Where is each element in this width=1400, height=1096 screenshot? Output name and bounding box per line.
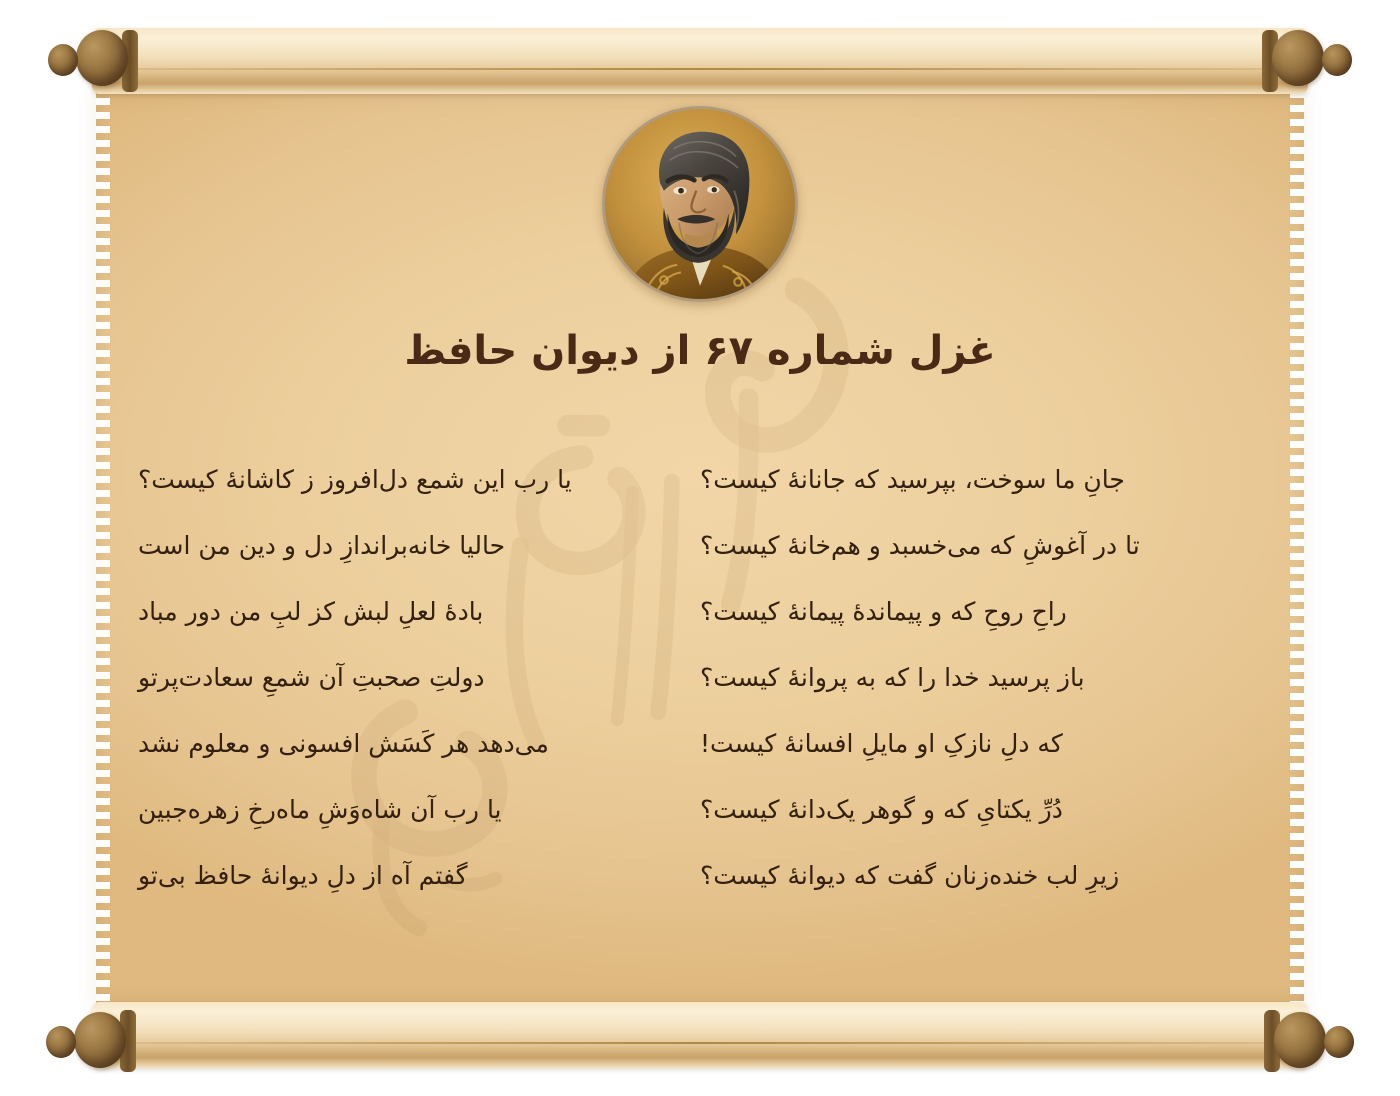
finial-knob-small (48, 44, 78, 76)
verse-row: دُرِّ یکتایِ که و گوهر یک‌دانهٔ کیست؟ یا… (148, 795, 1252, 824)
poem-body: جانِ ما سوخت، بپرسید که جانانهٔ کیست؟ یا… (96, 465, 1304, 927)
hemistich-second: تا در آغوشِ که می‌خسبد و هم‌خانهٔ کیست؟ (690, 531, 1252, 560)
scroll-rod-top (92, 28, 1308, 94)
hemistich-second: دُرِّ یکتایِ که و گوهر یک‌دانهٔ کیست؟ (690, 795, 1252, 824)
parchment-sheet: غزل شماره ۶۷ از دیوان حافظ جانِ ما سوخت،… (96, 84, 1304, 1012)
hemistich-second: زیرِ لب خنده‌زنان گفت که دیوانهٔ کیست؟ (690, 861, 1252, 890)
finial-knob-small (1322, 44, 1352, 76)
scroll-rod-bottom (92, 1002, 1308, 1068)
verse-row: راحِ روحِ که و پیماندهٔ پیمانهٔ کیست؟ با… (148, 597, 1252, 626)
page-title: غزل شماره ۶۷ از دیوان حافظ (404, 328, 995, 374)
hafez-portrait-avatar (602, 106, 798, 302)
finial-knob-small (1324, 1026, 1354, 1058)
hemistich-first: یا رب این شمع دل‌افروز ز کاشانهٔ کیست؟ (120, 465, 690, 494)
hemistich-first: یا رب آن شاه‌وَشِ ماه‌رخِ زهره‌جبین (120, 795, 690, 824)
hemistich-second: جانِ ما سوخت، بپرسید که جانانهٔ کیست؟ (690, 465, 1252, 494)
verse-row: جانِ ما سوخت، بپرسید که جانانهٔ کیست؟ یا… (148, 465, 1252, 494)
scroll-stage: غزل شماره ۶۷ از دیوان حافظ جانِ ما سوخت،… (0, 0, 1400, 1096)
hemistich-first: می‌دهد هر کَسَش افسونی و معلوم نشد (120, 729, 690, 758)
torn-edge-right (1290, 0, 1304, 1096)
verse-row: زیرِ لب خنده‌زنان گفت که دیوانهٔ کیست؟ گ… (148, 861, 1252, 890)
hemistich-second: که دلِ نازکِ او مایلِ افسانهٔ کیست! (690, 729, 1252, 758)
hemistich-first: حالیا خانه‌براندازِ دل و دین من است (120, 531, 690, 560)
verse-row: باز پرسید خدا را که به پروانهٔ کیست؟ دول… (148, 663, 1252, 692)
verse-row: که دلِ نازکِ او مایلِ افسانهٔ کیست! می‌د… (148, 729, 1252, 758)
hemistich-second: باز پرسید خدا را که به پروانهٔ کیست؟ (690, 663, 1252, 692)
hemistich-second: راحِ روحِ که و پیماندهٔ پیمانهٔ کیست؟ (690, 597, 1252, 626)
torn-edge-left (96, 0, 110, 1096)
hemistich-first: دولتِ صحبتِ آن شمعِ سعادت‌پرتو (120, 663, 690, 692)
finial-knob-small (46, 1026, 76, 1058)
hemistich-first: بادهٔ لعلِ لبش کز لبِ من دور مباد (120, 597, 690, 626)
hemistich-first: گفتم آه از دلِ دیوانهٔ حافظ بی‌تو (120, 861, 690, 890)
verse-row: تا در آغوشِ که می‌خسبد و هم‌خانهٔ کیست؟ … (148, 531, 1252, 560)
